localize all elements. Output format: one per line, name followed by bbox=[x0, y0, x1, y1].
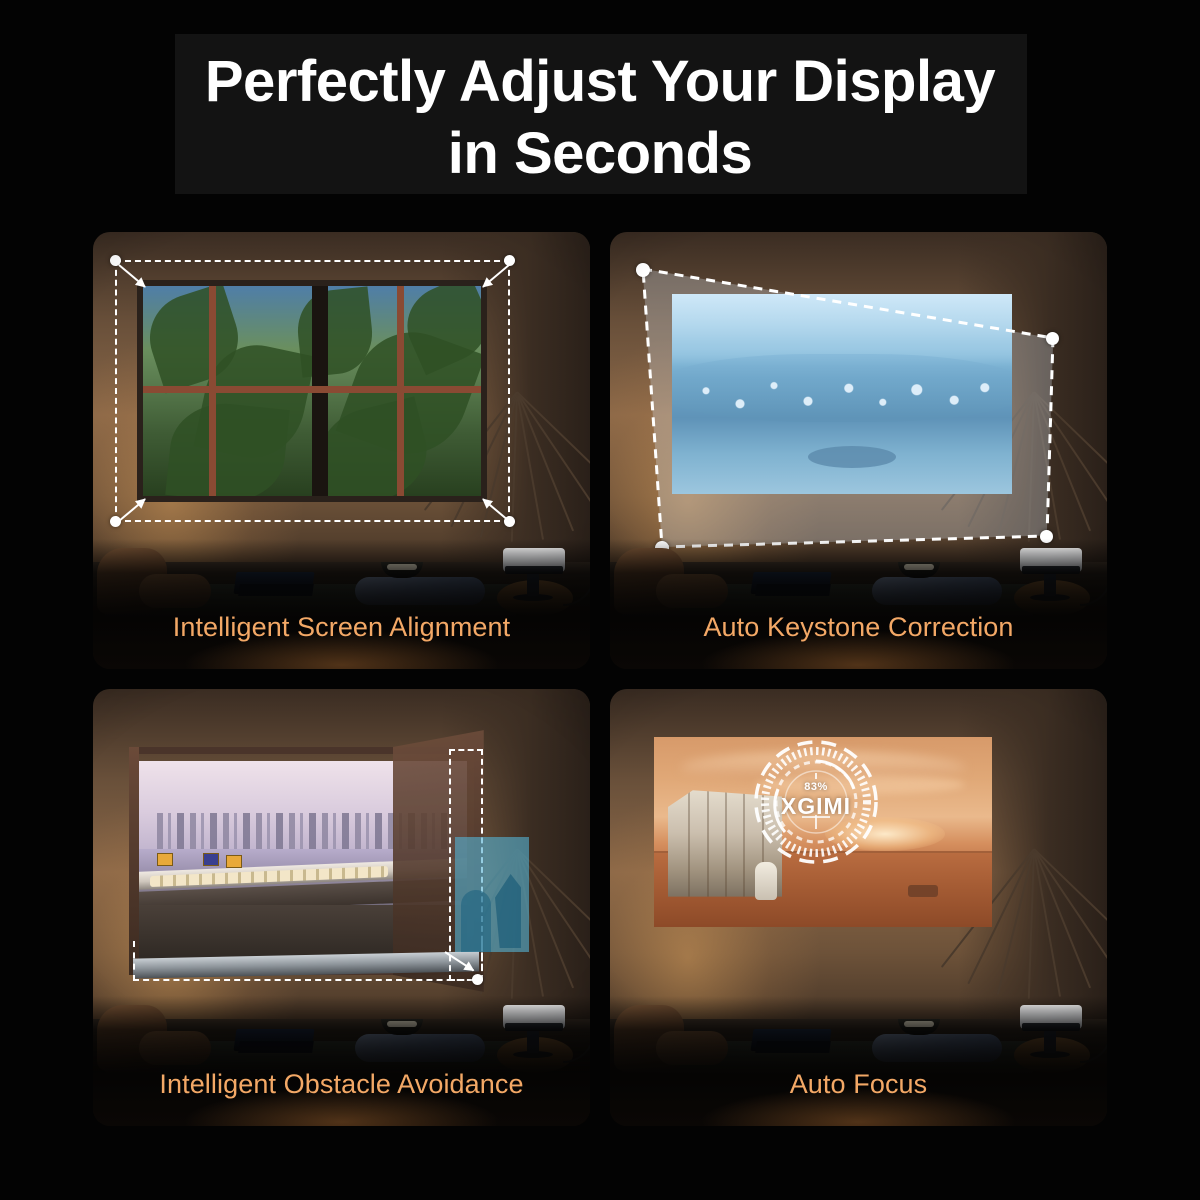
card-label-intelligent-obstacle-avoidance: Intelligent Obstacle Avoidance bbox=[93, 1069, 590, 1100]
xgimi-brand-logo: XGIMI bbox=[751, 793, 881, 820]
feature-card-intelligent-obstacle-avoidance[interactable]: Intelligent Obstacle Avoidance bbox=[93, 689, 590, 1126]
feature-card-auto-keystone-correction[interactable]: Auto Keystone Correction bbox=[610, 232, 1107, 669]
card-label-auto-focus: Auto Focus bbox=[610, 1069, 1107, 1100]
card-label-auto-keystone-correction: Auto Keystone Correction bbox=[610, 612, 1107, 643]
page-title: Perfectly Adjust Your Display in Seconds bbox=[0, 46, 1200, 190]
keystone-outline bbox=[634, 260, 1064, 550]
avoidance-dashed-lower bbox=[133, 941, 483, 981]
feature-card-grid: Intelligent Screen Alignment bbox=[93, 232, 1108, 1126]
avoidance-handle[interactable] bbox=[472, 974, 483, 985]
obstacle-highlight bbox=[455, 837, 529, 952]
corner-handle-top-right[interactable] bbox=[504, 255, 515, 266]
keystone-handle-top-right[interactable] bbox=[1046, 332, 1059, 345]
feature-card-auto-focus[interactable]: 83% XGIMI Auto Fo bbox=[610, 689, 1107, 1126]
headline-line-2: in Seconds bbox=[0, 118, 1200, 190]
headline-line-1: Perfectly Adjust Your Display bbox=[205, 49, 995, 114]
feature-card-intelligent-screen-alignment[interactable]: Intelligent Screen Alignment bbox=[93, 232, 590, 669]
alignment-dashed-rect bbox=[115, 260, 510, 522]
focus-percent: 83% bbox=[751, 781, 881, 793]
card-label-intelligent-screen-alignment: Intelligent Screen Alignment bbox=[93, 612, 590, 643]
promo-page: Perfectly Adjust Your Display in Seconds bbox=[0, 0, 1200, 1200]
auto-focus-ring-hud: 83% XGIMI bbox=[751, 737, 881, 867]
keystone-handle-top-left[interactable] bbox=[636, 263, 650, 277]
